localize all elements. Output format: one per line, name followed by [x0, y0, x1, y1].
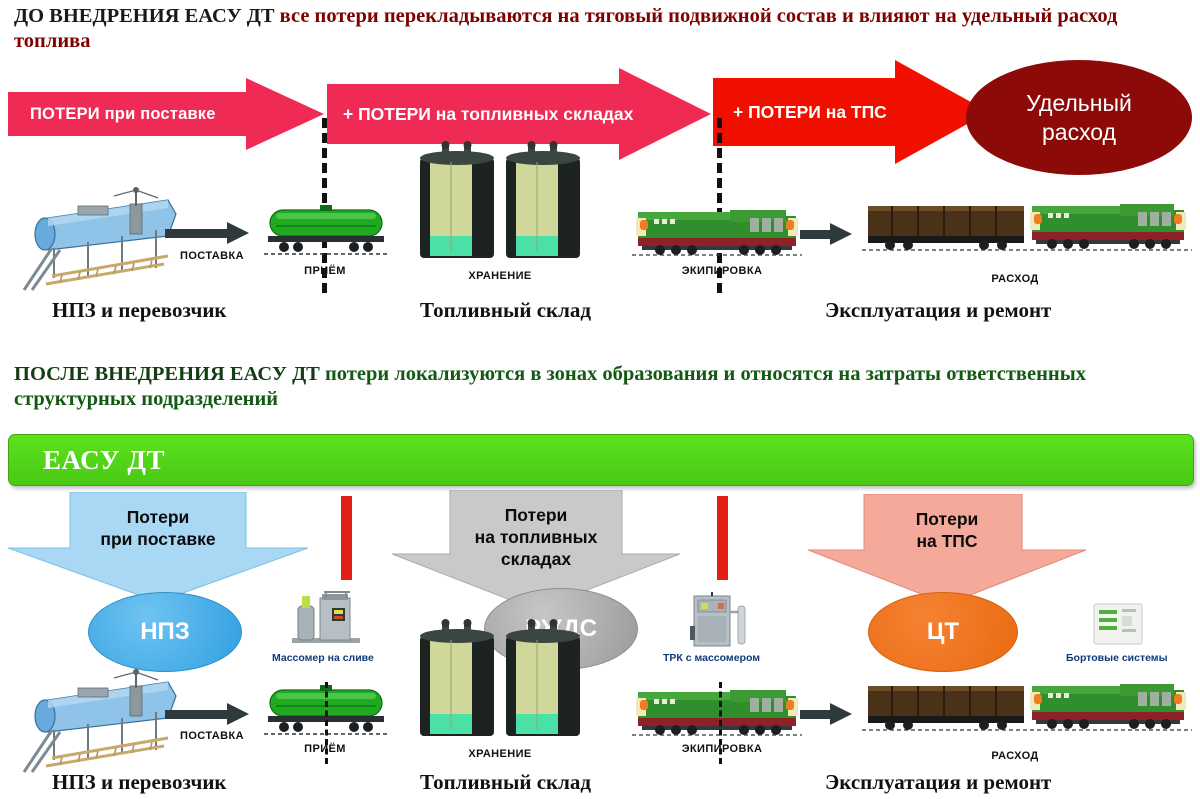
responsible-oval-ct: ЦТ — [868, 592, 1018, 672]
mass-flowmeter-device-icon — [288, 588, 364, 650]
locomotive-icon-bottom — [632, 686, 802, 738]
flow-arrow-operation-top — [800, 226, 856, 242]
down-arrow-supply-line-1: Потери — [8, 506, 308, 528]
down-arrow-depots-line-1: Потери — [392, 504, 680, 526]
result-line-1: Удельный — [1026, 89, 1132, 118]
caption-consumption-top: РАСХОД — [975, 273, 1055, 285]
zone-label-operation-bottom: Эксплуатация и ремонт — [825, 770, 1051, 795]
flow-arrow-supply-bottom — [165, 706, 251, 722]
zone-divider-bottom-1 — [341, 496, 352, 580]
fuel-storage-tanks-icon — [410, 140, 590, 265]
down-arrow-depots-text: Потери на топливных складах — [392, 504, 680, 570]
page-title-after: ПОСЛЕ ВНЕДРЕНИЯ ЕАСУ ДТ потери локализую… — [14, 362, 1189, 412]
device-label-dispenser: ТРК с массомером — [663, 652, 760, 664]
loss-arrow-supply: ПОТЕРИ при поставке — [8, 78, 323, 150]
arrow-tip — [227, 703, 249, 725]
caption-consumption-bottom: РАСХОД — [975, 750, 1055, 762]
arrow-tip — [830, 703, 852, 725]
easu-dt-banner-title: ЕАСУ ДТ — [43, 445, 165, 476]
caption-supply-top: ПОСТАВКА — [172, 250, 252, 262]
down-arrow-supply-text: Потери при поставке — [8, 506, 308, 550]
freight-train-icon-bottom — [862, 678, 1192, 738]
locomotive-icon — [632, 206, 802, 258]
refinery-loading-rack-icon — [18, 178, 188, 293]
caption-fuelling-top: ЭКИПИРОВКА — [672, 265, 772, 277]
down-arrow-tps: Потери на ТПС — [808, 494, 1086, 604]
arrow-tip — [830, 223, 852, 245]
loss-arrow-tps-label: + ПОТЕРИ на ТПС — [733, 102, 887, 123]
heading-before-lead: ДО ВНЕДРЕНИЯ ЕАСУ ДТ — [14, 5, 280, 27]
heading-after-lead: ПОСЛЕ ВНЕДРЕНИЯ ЕАСУ ДТ — [14, 363, 325, 385]
flow-arrow-supply-top — [165, 225, 251, 241]
flow-arrow-operation-bottom — [800, 706, 856, 722]
arrow-head — [246, 78, 324, 150]
onboard-system-device-icon — [1090, 600, 1146, 650]
down-arrow-depots-line-3: складах — [392, 548, 680, 570]
loss-arrow-supply-label: ПОТЕРИ при поставке — [30, 105, 216, 124]
zone-label-depot-bottom: Топливный склад — [420, 770, 591, 795]
arrow-shaft — [165, 710, 231, 719]
specific-consumption-ellipse: Удельный расход — [966, 60, 1192, 175]
caption-fuelling-bottom: ЭКИПИРОВКА — [672, 743, 772, 755]
fuel-dispenser-device-icon — [688, 592, 754, 650]
arrow-shaft — [800, 710, 834, 719]
tank-wagon-icon — [262, 204, 390, 260]
arrow-shaft — [165, 229, 231, 238]
device-label-onboard-system: Бортовые системы — [1066, 652, 1168, 664]
down-arrow-tps-line-2: на ТПС — [808, 530, 1086, 552]
down-arrow-supply-line-2: при поставке — [8, 528, 308, 550]
arrow-shaft — [800, 230, 834, 239]
down-arrow-tps-text: Потери на ТПС — [808, 508, 1086, 552]
refinery-loading-rack-icon-bottom — [18, 660, 188, 775]
zone-divider-bottom-2 — [717, 496, 728, 580]
infographic-canvas: ДО ВНЕДРЕНИЯ ЕАСУ ДТ все потери переклад… — [0, 0, 1200, 799]
zone-dash-divider-bottom-2 — [719, 682, 722, 764]
zone-dash-divider-bottom-1 — [325, 682, 328, 764]
caption-receipt-top: ПРИЁМ — [283, 265, 367, 277]
loss-arrow-depots-label: + ПОТЕРИ на топливных складах — [343, 104, 633, 125]
zone-label-refinery-top: НПЗ и перевозчик — [52, 298, 227, 323]
zone-label-operation-top: Эксплуатация и ремонт — [825, 298, 1051, 323]
zone-label-depot-top: Топливный склад — [420, 298, 591, 323]
arrow-tip — [227, 222, 249, 244]
down-arrow-tps-line-1: Потери — [808, 508, 1086, 530]
zone-label-refinery-bottom: НПЗ и перевозчик — [52, 770, 227, 795]
down-arrow-supply: Потери при поставке — [8, 492, 308, 602]
loss-arrow-tps: + ПОТЕРИ на ТПС — [713, 60, 988, 164]
easu-dt-banner: ЕАСУ ДТ — [8, 434, 1194, 486]
page-title-before: ДО ВНЕДРЕНИЯ ЕАСУ ДТ все потери переклад… — [14, 4, 1189, 54]
caption-storage-top: ХРАНЕНИЕ — [452, 270, 548, 282]
freight-train-icon — [862, 198, 1192, 258]
device-label-mass-flowmeter: Массомер на сливе — [272, 652, 374, 664]
fuel-storage-tanks-icon-bottom — [410, 618, 590, 743]
caption-supply-bottom: ПОСТАВКА — [172, 730, 252, 742]
down-arrow-depots-line-2: на топливных — [392, 526, 680, 548]
result-line-2: расход — [1026, 118, 1132, 147]
caption-storage-bottom: ХРАНЕНИЕ — [452, 748, 548, 760]
